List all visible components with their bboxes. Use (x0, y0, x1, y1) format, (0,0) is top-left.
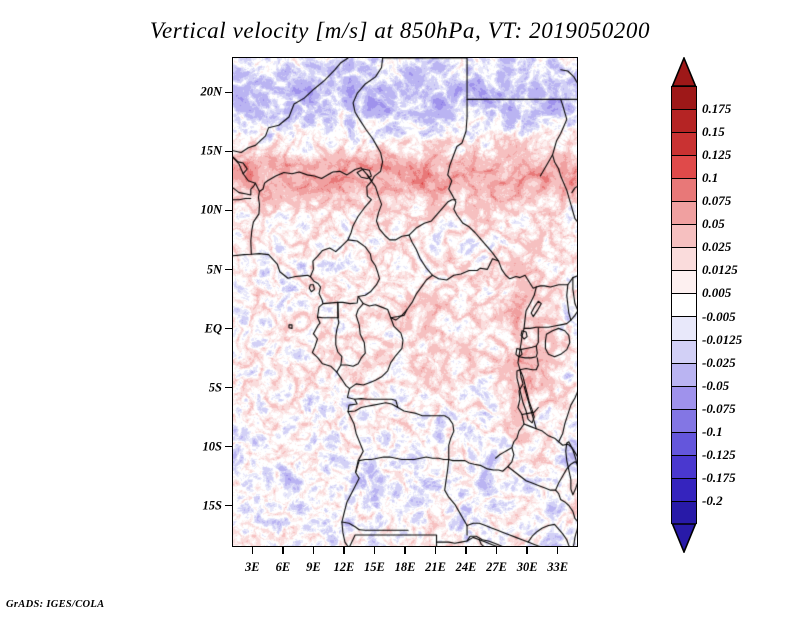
colorbar-swatches (671, 86, 697, 524)
longitude-tick-label: 18E (395, 560, 416, 575)
colorbar-swatch (672, 410, 696, 433)
latitude-tick-label: 20N (200, 85, 222, 100)
longitude-tick (557, 547, 559, 554)
colorbar-swatch (672, 202, 696, 225)
latitude-tick (225, 210, 232, 212)
latitude-tick (225, 328, 232, 330)
colorbar-swatch (672, 502, 696, 525)
colorbar-swatch (672, 479, 696, 502)
colorbar-tick-label: 0.1 (702, 170, 718, 186)
longitude-tick (465, 547, 467, 554)
colorbar-swatch (672, 456, 696, 479)
latitude-tick-label: 10N (200, 203, 222, 218)
colorbar-swatch (672, 341, 696, 364)
longitude-tick-label: 9E (306, 560, 321, 575)
longitude-tick (282, 547, 284, 554)
latitude-tick-label: 15S (203, 498, 222, 513)
colorbar-tick-label: 0.175 (702, 101, 731, 117)
longitude-tick (313, 547, 315, 554)
longitude-tick-label: 3E (245, 560, 260, 575)
colorbar-tick-label: -0.2 (702, 493, 723, 509)
page-title: Vertical velocity [m/s] at 850hPa, VT: 2… (0, 18, 800, 44)
colorbar-swatch (672, 156, 696, 179)
latitude-tick (225, 387, 232, 389)
colorbar-swatch (672, 110, 696, 133)
longitude-tick (404, 547, 406, 554)
colorbar-tick-label: 0.025 (702, 239, 731, 255)
map-panel[interactable]: 20N15N10N5NEQ5S10S15S 3E6E9E12E15E18E21E… (232, 57, 578, 547)
longitude-tick (526, 547, 528, 554)
longitude-tick-label: 12E (334, 560, 355, 575)
colorbar-swatch (672, 225, 696, 248)
latitude-tick-label: EQ (205, 321, 222, 336)
colorbar-tick-label: -0.0125 (702, 332, 742, 348)
longitude-tick-label: 6E (276, 560, 291, 575)
colorbar-tick-label: 0.125 (702, 147, 731, 163)
colorbar-swatch (672, 387, 696, 410)
latitude-tick (225, 269, 232, 271)
country-borders-overlay (233, 58, 578, 547)
latitude-tick (225, 151, 232, 153)
colorbar-tick-label: 0.0125 (702, 262, 738, 278)
latitude-tick-label: 5S (209, 380, 222, 395)
footer-credit: GrADS: IGES/COLA (6, 599, 104, 610)
longitude-tick-label: 24E (456, 560, 477, 575)
longitude-tick (435, 547, 437, 554)
colorbar-swatch (672, 317, 696, 340)
map-frame (232, 57, 578, 547)
colorbar-tick-label: -0.125 (702, 447, 736, 463)
latitude-tick (225, 92, 232, 94)
longitude-tick (374, 547, 376, 554)
longitude-tick (252, 547, 254, 554)
colorbar-tick-label: -0.005 (702, 309, 736, 325)
latitude-tick-label: 5N (207, 262, 222, 277)
longitude-tick-label: 30E (517, 560, 538, 575)
colorbar-extend-bottom-arrow (671, 523, 697, 553)
colorbar-tick-label: 0.075 (702, 193, 731, 209)
latitude-tick (225, 505, 232, 507)
colorbar-swatch (672, 133, 696, 156)
colorbar-tick-label: -0.1 (702, 424, 723, 440)
longitude-tick (496, 547, 498, 554)
colorbar-tick-label: 0.15 (702, 124, 725, 140)
colorbar-swatch (672, 248, 696, 271)
colorbar-tick-label: 0.05 (702, 216, 725, 232)
latitude-tick (225, 446, 232, 448)
colorbar-extend-top-arrow (671, 57, 697, 87)
colorbar-tick-label: -0.05 (702, 378, 729, 394)
colorbar-tick-label: -0.175 (702, 470, 736, 486)
colorbar-swatch (672, 271, 696, 294)
colorbar-tick-label: 0.005 (702, 285, 731, 301)
vertical-velocity-colorbar[interactable]: 0.1750.150.1250.10.0750.050.0250.01250.0… (671, 57, 697, 553)
colorbar-tick-label: -0.025 (702, 355, 736, 371)
colorbar-swatch (672, 433, 696, 456)
longitude-tick (343, 547, 345, 554)
colorbar-tick-label: -0.075 (702, 401, 736, 417)
longitude-tick-label: 33E (547, 560, 568, 575)
longitude-tick-label: 21E (425, 560, 446, 575)
colorbar-swatch (672, 87, 696, 110)
longitude-tick-label: 15E (364, 560, 385, 575)
latitude-tick-label: 15N (200, 144, 222, 159)
colorbar-swatch (672, 294, 696, 317)
latitude-tick-label: 10S (203, 439, 222, 454)
colorbar-swatch (672, 179, 696, 202)
colorbar-swatch (672, 364, 696, 387)
longitude-tick-label: 27E (486, 560, 507, 575)
